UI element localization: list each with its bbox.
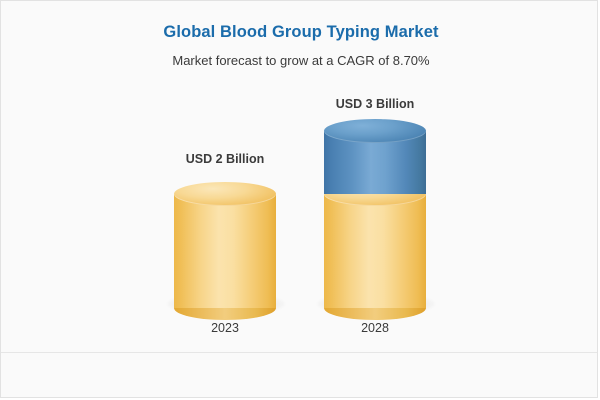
bar-2023-category-label: 2023 xyxy=(155,321,295,335)
chart-card: Global Blood Group Typing Market Market … xyxy=(0,0,598,398)
footer: https://www.researchandmarkets.com/repor… xyxy=(1,353,598,398)
bar-2028-value-label: USD 3 Billion xyxy=(305,97,445,111)
bar-2023-top-cap xyxy=(174,182,276,206)
chart-plot-area: USD 2 Billion 2023 USD 3 Billion 2028 xyxy=(1,1,598,349)
bar-2023-top-wrap xyxy=(174,182,276,206)
bar-2028-segment-yellow xyxy=(324,194,426,308)
bar-2028-top-cap xyxy=(324,119,426,143)
bar-2028-category-label: 2028 xyxy=(305,321,445,335)
bar-2028[interactable] xyxy=(324,119,426,308)
bar-2028-yellow-body xyxy=(324,194,426,308)
bar-2023[interactable] xyxy=(174,182,276,308)
bar-2023-yellow-body xyxy=(174,194,276,308)
bar-2028-top-wrap xyxy=(324,119,426,143)
bar-2023-segment-yellow xyxy=(174,194,276,308)
bar-2023-value-label: USD 2 Billion xyxy=(155,152,295,166)
